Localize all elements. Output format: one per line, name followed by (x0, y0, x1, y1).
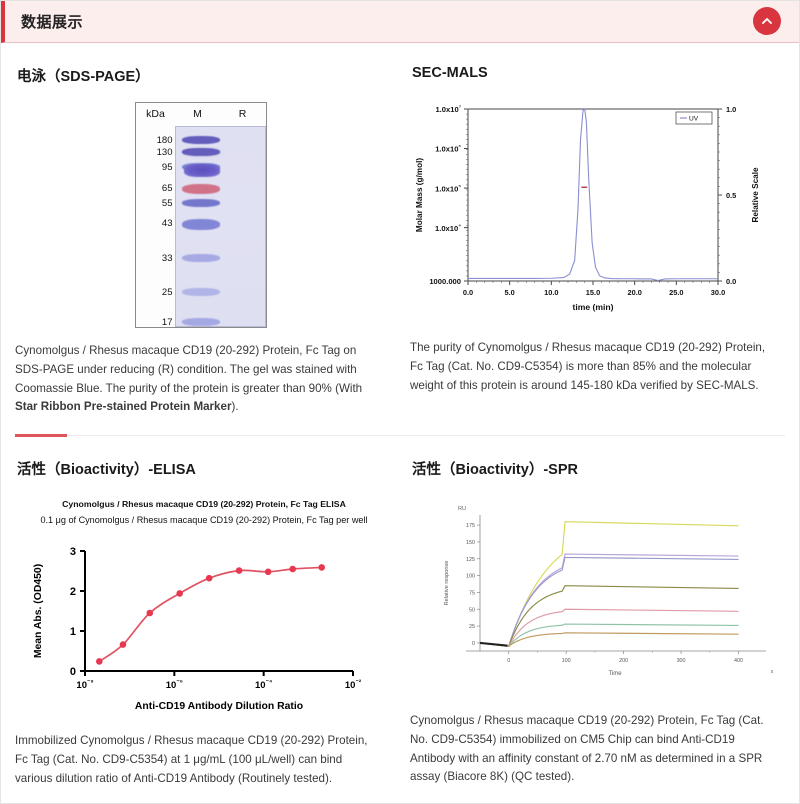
spr-xtick: 0 (507, 658, 510, 664)
sec-mals-ytick: 1.0x10⁶ (435, 145, 461, 154)
elisa-ytick: 0 (70, 666, 76, 678)
elisa-xtick: 10⁻⁴ (255, 679, 272, 691)
spr-xtick: 300 (677, 658, 686, 664)
gel-header-kda: kDa (136, 108, 176, 120)
gel-ladder-label: 65 (138, 183, 173, 194)
elisa-data-point (146, 610, 153, 617)
gel-ladder-label: 43 (138, 218, 173, 229)
elisa-data-point (289, 566, 296, 573)
spr-baseline (480, 643, 508, 646)
sds-page-gel-image: kDa M R 18013095655543332517 (15, 100, 386, 328)
gel-ladder-label: 33 (138, 253, 173, 264)
caption-text-1: Cynomolgus / Rhesus macaque CD19 (20-292… (15, 344, 362, 395)
sec-mals-xtick: 10.0 (544, 288, 558, 297)
elisa-caption: Immobilized Cynomolgus / Rhesus macaque … (15, 732, 386, 788)
elisa-section: 活性（Bioactivity）-ELISA Cynomolgus / Rhesu… (15, 436, 400, 788)
sec-mals-xlabel: time (min) (572, 302, 613, 312)
sec-mals-legend: UV (676, 112, 712, 124)
spr-ytick: 150 (466, 540, 475, 546)
elisa-ylabel: Mean Abs. (OD450) (33, 564, 44, 658)
gel-ladder-band (182, 199, 220, 207)
spr-section: 活性（Bioactivity）-SPR RU025507510012515017… (400, 436, 785, 788)
collapse-panel-button[interactable] (753, 7, 781, 35)
spr-ytick: 0 (472, 641, 475, 647)
elisa-xtick: 10⁻² (345, 679, 362, 691)
elisa-xtick: 10⁻⁸ (76, 679, 93, 691)
spr-sensorgram-trace (480, 633, 739, 646)
chevron-up-icon (760, 14, 774, 28)
sec-mals-y2tick: 0.5 (726, 191, 736, 200)
elisa-ytick: 3 (70, 546, 76, 558)
spr-xtick: 400 (734, 658, 743, 664)
spr-ytick: 125 (466, 557, 475, 563)
gel-sample-smear (182, 148, 222, 157)
caption-marker-name: Star Ribbon Pre-stained Protein Marker (15, 400, 231, 413)
gel-ladder-label: 130 (138, 147, 173, 158)
sec-mals-title: SEC-MALS (412, 65, 785, 81)
elisa-data-point (318, 564, 325, 571)
spr-xtick: 100 (562, 658, 571, 664)
elisa-ytick: 1 (70, 626, 76, 638)
sec-mals-xtick: 20.0 (627, 288, 641, 297)
gel-ladder-label: 25 (138, 287, 173, 298)
sec-mals-section: SEC-MALS 1000.0001.0x10⁴1.0x10⁵1.0x10⁶1.… (400, 43, 785, 417)
spr-title: 活性（Bioactivity）-SPR (412, 458, 785, 479)
gel-column-headers: kDa M R (136, 103, 266, 125)
sec-mals-xtick: 15.0 (586, 288, 600, 297)
spr-x-unit: s (771, 669, 774, 675)
elisa-data-point (120, 641, 127, 648)
gel-ladder-label: 55 (138, 198, 173, 209)
elisa-chart-subtitle: 0.1 μg of Cynomolgus / Rhesus macaque CD… (40, 515, 367, 525)
sec-mals-xtick: 5.0 (505, 288, 515, 297)
gel-ladder-band (182, 184, 220, 194)
sec-mals-ylabel: Molar Mass (g/mol) (415, 158, 424, 232)
spr-caption: Cynomolgus / Rhesus macaque CD19 (20-292… (410, 712, 785, 787)
spr-chart: RU02550751001251501750100200300400Relati… (410, 493, 785, 698)
gel-ladder-band (182, 136, 220, 144)
svg-text:UV: UV (689, 116, 699, 123)
spr-y-unit: RU (458, 506, 466, 512)
spr-ylabel: Relative response (444, 561, 450, 606)
sds-page-caption: Cynomolgus / Rhesus macaque CD19 (20-292… (15, 342, 386, 417)
spr-sensorgram-trace (480, 554, 739, 646)
sds-page-section: 电泳（SDS-PAGE） kDa M R 1801309565554333251… (15, 43, 400, 417)
gel-ladder-band (182, 318, 220, 326)
sec-mals-caption: The purity of Cynomolgus / Rhesus macaqu… (410, 339, 785, 395)
page-title: 数据展示 (21, 11, 83, 32)
spr-sensorgram-trace (480, 624, 739, 646)
gel-header-reducing: R (220, 108, 266, 120)
panel-body: 电泳（SDS-PAGE） kDa M R 1801309565554333251… (1, 43, 799, 788)
sec-mals-ytick: 1.0x10⁵ (435, 184, 461, 193)
gel-sample-band (184, 164, 220, 177)
sds-page-title: 电泳（SDS-PAGE） (17, 65, 386, 86)
elisa-fit-curve (99, 568, 321, 662)
elisa-chart: Cynomolgus / Rhesus macaque CD19 (20-292… (13, 493, 395, 718)
elisa-data-point (176, 590, 183, 597)
spr-xlabel: Time (608, 671, 622, 677)
elisa-title: 活性（Bioactivity）-ELISA (17, 458, 386, 479)
caption-text-2: ). (231, 400, 238, 413)
data-display-panel: 数据展示 电泳（SDS-PAGE） kDa M R (0, 0, 800, 804)
elisa-xlabel: Anti-CD19 Antibody Dilution Ratio (135, 701, 303, 712)
spr-ytick: 50 (469, 607, 475, 613)
spr-ytick: 100 (466, 574, 475, 580)
sec-mals-ytick: 1.0x10⁷ (435, 105, 461, 114)
elisa-xtick: 10⁻⁶ (166, 679, 183, 691)
elisa-data-point (265, 569, 272, 576)
gel-header-marker: M (176, 108, 220, 120)
gel-ladder-band (182, 219, 220, 230)
gel-ladder-label: 17 (138, 317, 173, 328)
sec-mals-xtick: 30.0 (711, 288, 725, 297)
sec-mals-y2tick: 1.0 (726, 105, 736, 114)
row-bottom: 活性（Bioactivity）-ELISA Cynomolgus / Rhesu… (15, 436, 785, 788)
gel-ladder-label: 95 (138, 162, 173, 173)
sec-mals-y2tick: 0.0 (726, 277, 736, 286)
spr-xtick: 200 (619, 658, 628, 664)
gel-ladder-label: 180 (138, 135, 173, 146)
sec-mals-ytick: 1000.000 (429, 277, 461, 286)
panel-header: 数据展示 (1, 1, 799, 43)
elisa-data-point (236, 567, 243, 574)
elisa-ytick: 2 (70, 586, 76, 598)
spr-sensorgram-trace (480, 522, 739, 647)
sec-mals-y2label: Relative Scale (751, 167, 760, 223)
row-top: 电泳（SDS-PAGE） kDa M R 1801309565554333251… (15, 43, 785, 417)
section-divider (15, 435, 785, 436)
elisa-data-point (206, 575, 213, 582)
gel-ladder-band (182, 288, 220, 296)
spr-ytick: 75 (469, 591, 475, 597)
sec-mals-xtick: 0.0 (463, 288, 473, 297)
sec-mals-xtick: 25.0 (669, 288, 683, 297)
spr-ytick: 175 (466, 523, 475, 529)
sec-mals-chart: 1000.0001.0x10⁴1.0x10⁵1.0x10⁶1.0x10⁷0.05… (406, 95, 776, 325)
sec-mals-ytick: 1.0x10⁴ (435, 224, 461, 233)
spr-ytick: 25 (469, 624, 475, 630)
elisa-data-point (96, 658, 103, 665)
elisa-chart-title: Cynomolgus / Rhesus macaque CD19 (20-292… (62, 499, 346, 509)
gel-ladder-band (182, 254, 220, 262)
